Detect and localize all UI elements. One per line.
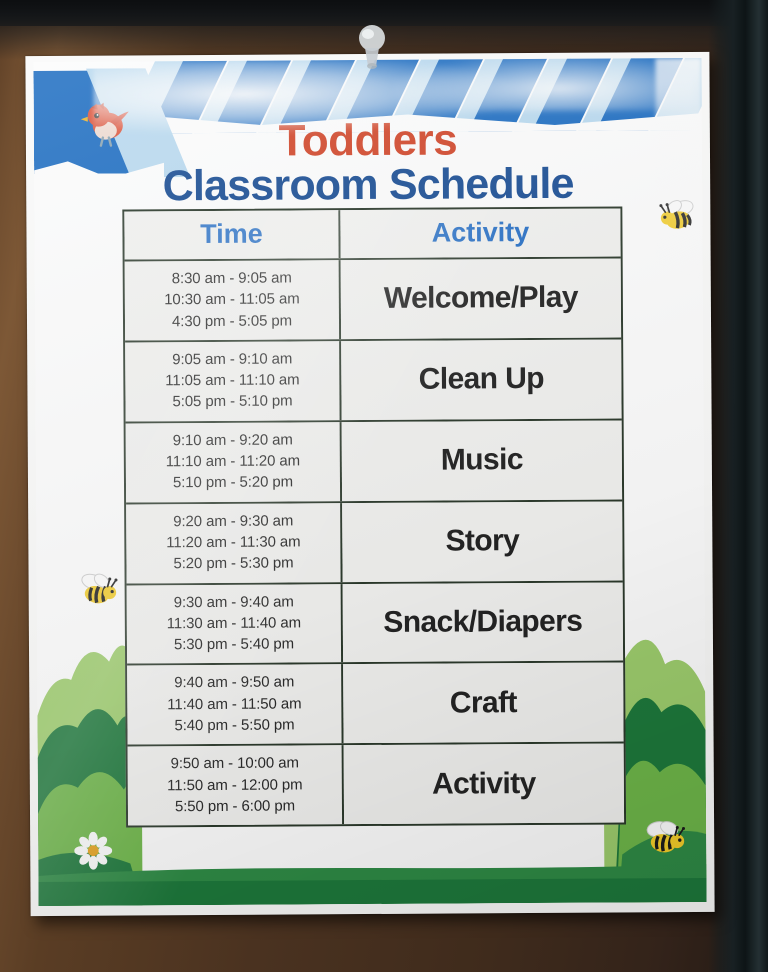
- table-header-row: Time Activity: [124, 208, 620, 261]
- time-slot: 5:30 pm - 5:40 pm: [131, 633, 337, 656]
- time-slot: 10:30 am - 11:05 am: [129, 289, 335, 312]
- page-title: Toddlers: [34, 116, 702, 166]
- time-slot: 9:30 am - 9:40 am: [131, 591, 337, 614]
- activity-label: Music: [441, 443, 523, 478]
- time-cell: 8:30 am - 9:05 am 10:30 am - 11:05 am 4:…: [125, 260, 341, 340]
- pushpin-icon[interactable]: [352, 22, 392, 70]
- time-slot: 5:10 pm - 5:20 pm: [130, 472, 336, 495]
- activity-label: Story: [445, 524, 519, 558]
- column-header-time: Time: [200, 219, 263, 249]
- activity-cell: Snack/Diapers: [343, 582, 623, 663]
- time-slot: 5:40 pm - 5:50 pm: [131, 714, 337, 737]
- activity-cell: Craft: [343, 663, 623, 744]
- page-subtitle: Classroom Schedule: [34, 160, 702, 211]
- activity-cell: Story: [342, 501, 622, 582]
- time-cell: 9:30 am - 9:40 am 11:30 am - 11:40 am 5:…: [127, 584, 343, 664]
- table-row: 9:20 am - 9:30 am 11:20 am - 11:30 am 5:…: [126, 501, 622, 585]
- poster-titles: Toddlers Classroom Schedule: [34, 116, 703, 212]
- bee-icon: [656, 198, 698, 234]
- activity-label: Craft: [450, 686, 517, 720]
- time-slot: 11:50 am - 12:00 pm: [132, 774, 338, 797]
- activity-cell: Activity: [344, 744, 624, 825]
- wall-right-dark-band: [708, 0, 768, 972]
- header-cell-time: Time: [124, 210, 340, 259]
- bee-icon: [642, 818, 690, 858]
- activity-cell: Clean Up: [341, 339, 621, 420]
- bee-icon: [75, 572, 121, 610]
- time-cell: 9:50 am - 10:00 am 11:50 am - 12:00 pm 5…: [128, 746, 344, 826]
- time-slot: 5:20 pm - 5:30 pm: [130, 552, 336, 575]
- schedule-table: Time Activity 8:30 am - 9:05 am 10:30 am…: [122, 206, 626, 827]
- photo-scene: Toddlers Classroom Schedule: [0, 0, 768, 972]
- activity-cell: Welcome/Play: [341, 258, 621, 339]
- activity-label: Activity: [432, 767, 536, 802]
- time-slot: 5:50 pm - 6:00 pm: [132, 795, 338, 818]
- table-row: 9:50 am - 10:00 am 11:50 am - 12:00 pm 5…: [128, 744, 624, 826]
- time-slot: 11:05 am - 11:10 am: [129, 369, 335, 392]
- time-slot: 11:20 am - 11:30 am: [130, 531, 336, 554]
- flower-icon: [74, 832, 112, 870]
- table-row: 8:30 am - 9:05 am 10:30 am - 11:05 am 4:…: [125, 258, 621, 342]
- time-cell: 9:20 am - 9:30 am 11:20 am - 11:30 am 5:…: [126, 503, 342, 583]
- header-cell-activity: Activity: [340, 208, 620, 258]
- time-slot: 5:05 pm - 5:10 pm: [129, 391, 335, 414]
- time-cell: 9:05 am - 9:10 am 11:05 am - 11:10 am 5:…: [125, 341, 341, 421]
- time-slot: 4:30 pm - 5:05 pm: [129, 310, 335, 333]
- table-row: 9:10 am - 9:20 am 11:10 am - 11:20 am 5:…: [126, 420, 622, 504]
- activity-cell: Music: [342, 420, 622, 501]
- time-slot: 9:10 am - 9:20 am: [130, 429, 336, 452]
- activity-label: Clean Up: [419, 362, 544, 397]
- table-row: 9:05 am - 9:10 am 11:05 am - 11:10 am 5:…: [125, 339, 621, 423]
- time-slot: 8:30 am - 9:05 am: [129, 267, 335, 290]
- column-header-activity: Activity: [432, 217, 530, 249]
- time-slot: 11:10 am - 11:20 am: [130, 450, 336, 473]
- time-slot: 9:40 am - 9:50 am: [131, 672, 337, 695]
- classroom-schedule-poster: Toddlers Classroom Schedule: [25, 52, 714, 916]
- table-row: 9:40 am - 9:50 am 11:40 am - 11:50 am 5:…: [127, 663, 623, 747]
- time-cell: 9:40 am - 9:50 am 11:40 am - 11:50 am 5:…: [127, 665, 343, 745]
- time-slot: 11:30 am - 11:40 am: [131, 612, 337, 635]
- time-slot: 9:20 am - 9:30 am: [130, 510, 336, 533]
- activity-label: Welcome/Play: [384, 281, 578, 316]
- activity-label: Snack/Diapers: [383, 605, 582, 640]
- table-row: 9:30 am - 9:40 am 11:30 am - 11:40 am 5:…: [127, 582, 623, 666]
- poster-printed-sheet: Toddlers Classroom Schedule: [33, 58, 706, 906]
- time-slot: 9:05 am - 9:10 am: [129, 348, 335, 371]
- time-slot: 11:40 am - 11:50 am: [131, 693, 337, 716]
- time-slot: 9:50 am - 10:00 am: [132, 753, 338, 776]
- time-cell: 9:10 am - 9:20 am 11:10 am - 11:20 am 5:…: [126, 422, 342, 502]
